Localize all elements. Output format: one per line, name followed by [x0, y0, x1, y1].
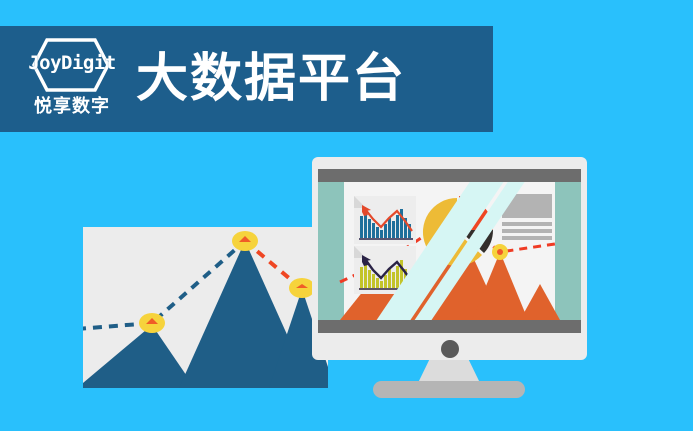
mountain-shape-far [520, 284, 560, 320]
monitor-top-bar [318, 169, 581, 182]
monitor-neck [418, 360, 480, 383]
poster-canvas: JoyDigit 悦享数字 大数据平台 [0, 0, 693, 431]
logo-wordmark: JoyDigit [16, 52, 128, 74]
text-block-line [502, 222, 552, 226]
monitor-stand [312, 345, 587, 389]
text-block-line [502, 229, 552, 233]
blue-bar-card [354, 196, 416, 244]
blue-bar-chart [359, 201, 413, 241]
monitor [312, 157, 587, 389]
left-panel [83, 227, 328, 388]
monitor-frame [312, 157, 587, 345]
left-mountain-chart [83, 227, 328, 388]
monitor-chin [312, 345, 587, 360]
node-center [497, 249, 503, 255]
screen-content [344, 182, 555, 320]
logo-subtitle: 悦享数字 [16, 92, 128, 118]
monitor-bottom-bar [318, 320, 581, 333]
screen-band-right [555, 182, 581, 320]
screen-band-left [318, 182, 344, 320]
logo: JoyDigit 悦享数字 [16, 34, 128, 124]
mountain-shape-left [83, 325, 195, 388]
power-button-icon[interactable] [441, 340, 459, 358]
page-title: 大数据平台 [136, 48, 406, 110]
text-block-line [502, 236, 552, 240]
monitor-base [373, 381, 525, 398]
monitor-screen [318, 182, 581, 320]
header-banner: JoyDigit 悦享数字 大数据平台 [0, 26, 493, 132]
